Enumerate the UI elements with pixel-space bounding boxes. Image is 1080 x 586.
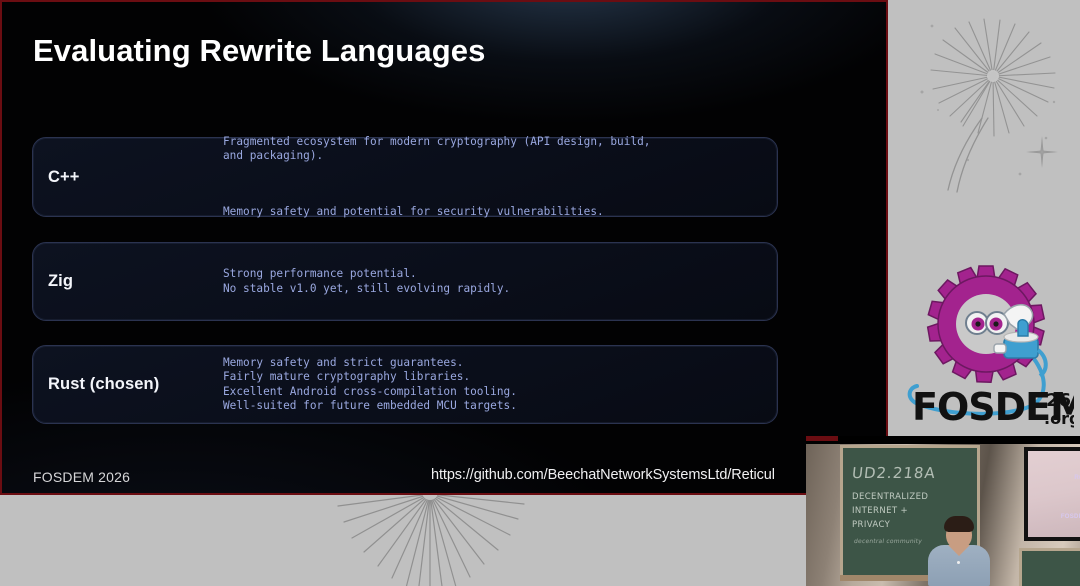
projection-text-1: Ru <box>1074 475 1080 481</box>
language-card-rust: Rust (chosen) Memory safety and strict g… <box>32 345 778 424</box>
secondary-chalkboard <box>1019 548 1080 586</box>
language-card-zig: Zig Strong performance potential. No sta… <box>32 242 778 321</box>
chalkboard-room: UD2.218A <box>851 464 937 482</box>
chalkboard-line-2: INTERNET + <box>852 506 908 516</box>
speaker-microphone-icon <box>957 561 960 564</box>
language-card-label: Zig <box>33 272 223 291</box>
slide-footer-event: FOSDEM 2026 <box>33 469 130 485</box>
language-card-label: Rust (chosen) <box>33 375 223 394</box>
language-card-body: Memory safety and strict guarantees. Fai… <box>223 328 777 442</box>
card-paragraph: Strong performance potential. No stable … <box>223 267 763 295</box>
chalkboard-line-1: DECENTRALIZED <box>852 492 928 502</box>
projection-text-2: FOSDE <box>1061 514 1080 520</box>
slide-title: Evaluating Rewrite Languages <box>33 33 485 69</box>
slide-border-remnant <box>806 436 838 441</box>
fosdem-year: 26 <box>1046 390 1071 411</box>
language-card-cpp: C++ Fragmented ecosystem for modern cryp… <box>32 137 778 217</box>
speaker-figure <box>926 516 992 586</box>
card-paragraph: Memory safety and potential for security… <box>223 205 763 219</box>
language-card-body: Strong performance potential. No stable … <box>223 239 777 324</box>
slide-footer-url: https://github.com/BeechatNetworkSystems… <box>431 467 775 483</box>
card-paragraph: Memory safety and strict guarantees. Fai… <box>223 356 763 413</box>
language-card-body: Fragmented ecosystem for modern cryptogr… <box>223 107 777 248</box>
fosdem-logo: FOSDEM 26 .org <box>898 258 1074 434</box>
webcam-top-letterbox <box>806 436 1080 444</box>
sparkle-star-icon <box>1026 136 1058 173</box>
chalkboard-line-4: decentral community <box>854 538 923 545</box>
fosdem-tld: .org <box>1044 409 1074 428</box>
projection-screen: Ru FOSDE <box>1024 447 1080 541</box>
card-paragraph: Fragmented ecosystem for modern cryptogr… <box>223 135 763 163</box>
firework-burst-bottom-icon <box>320 486 540 586</box>
chalkboard-line-3: PRIVACY <box>852 520 890 530</box>
language-card-label: C++ <box>33 168 223 187</box>
slide-surface: Evaluating Rewrite Languages C++ Fragmen… <box>2 2 886 493</box>
speaker-webcam-overlay: UD2.218A DECENTRALIZED INTERNET + PRIVAC… <box>806 436 1080 586</box>
presentation-slide: Evaluating Rewrite Languages C++ Fragmen… <box>0 0 888 495</box>
speaker-hair <box>944 516 974 532</box>
